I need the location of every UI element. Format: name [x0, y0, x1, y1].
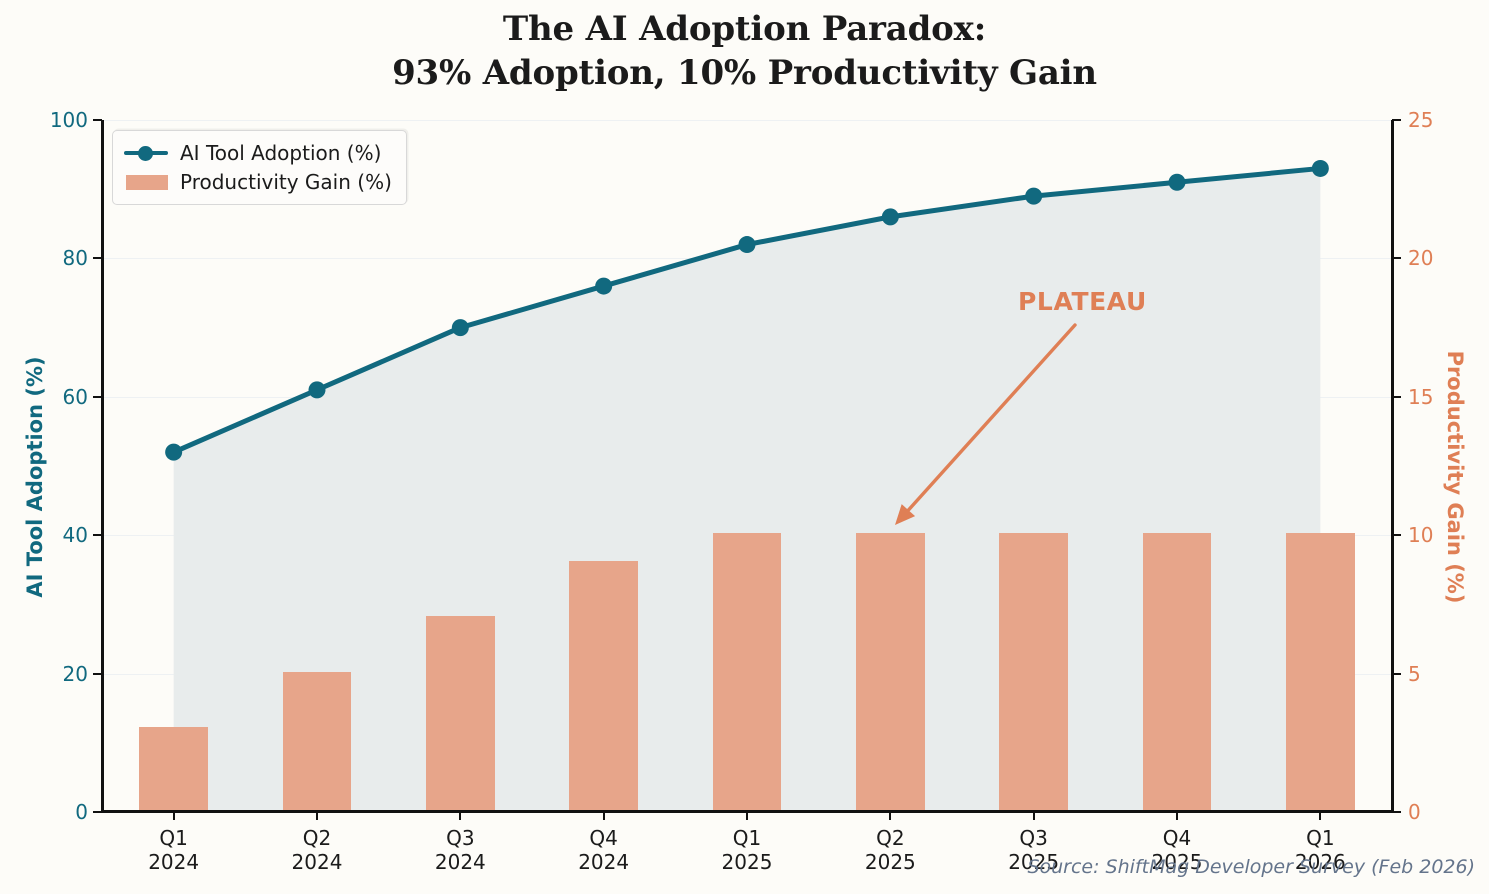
legend-label-productivity: Productivity Gain (%) [180, 170, 392, 194]
plot-area: 020406080100 0510152025 Q1 2024Q2 2024Q3… [102, 120, 1392, 812]
chart-legend: AI Tool Adoption (%) Productivity Gain (… [112, 130, 407, 205]
left-tick-label: 60 [0, 387, 88, 407]
left-tick-label: 20 [0, 664, 88, 684]
x-tick-mark [316, 811, 318, 820]
right-tick-label: 20 [1408, 248, 1489, 268]
chart-figure: The AI Adoption Paradox: 93% Adoption, 1… [0, 0, 1489, 894]
plateau-arrow-icon [102, 120, 1392, 812]
x-tick-mark [459, 811, 461, 820]
right-tick-label: 25 [1408, 110, 1489, 130]
axis-spine-left [101, 120, 104, 812]
left-tick-label: 100 [0, 110, 88, 130]
axis-spine-right [1391, 120, 1394, 812]
left-tick-label: 0 [0, 802, 88, 822]
plateau-annotation: PLATEAU [1018, 287, 1147, 316]
right-tick-label: 15 [1408, 387, 1489, 407]
legend-item-productivity: Productivity Gain (%) [124, 167, 392, 196]
right-axis-label: Productivity Gain (%) [1443, 277, 1467, 677]
x-tick-mark [603, 811, 605, 820]
x-tick-mark [889, 811, 891, 820]
right-tick-label: 10 [1408, 525, 1489, 545]
x-tick-mark [1033, 811, 1035, 820]
legend-item-adoption: AI Tool Adoption (%) [124, 138, 392, 167]
x-tick-mark [1319, 811, 1321, 820]
x-tick-mark [1176, 811, 1178, 820]
x-tick-mark [173, 811, 175, 820]
legend-label-adoption: AI Tool Adoption (%) [180, 141, 381, 165]
left-tick-label: 40 [0, 525, 88, 545]
legend-line-marker-icon [124, 141, 168, 165]
source-caption: Source: ShiftMag Developer Survey (Feb 2… [0, 856, 1475, 878]
legend-bar-patch-icon [124, 170, 168, 194]
right-tick-label: 5 [1408, 664, 1489, 684]
arrow-shaft [902, 325, 1075, 518]
left-tick-label: 80 [0, 248, 88, 268]
chart-title: The AI Adoption Paradox: 93% Adoption, 1… [0, 8, 1489, 95]
x-tick-mark [746, 811, 748, 820]
right-tick-label: 0 [1408, 802, 1489, 822]
left-axis-label: AI Tool Adoption (%) [23, 277, 47, 677]
